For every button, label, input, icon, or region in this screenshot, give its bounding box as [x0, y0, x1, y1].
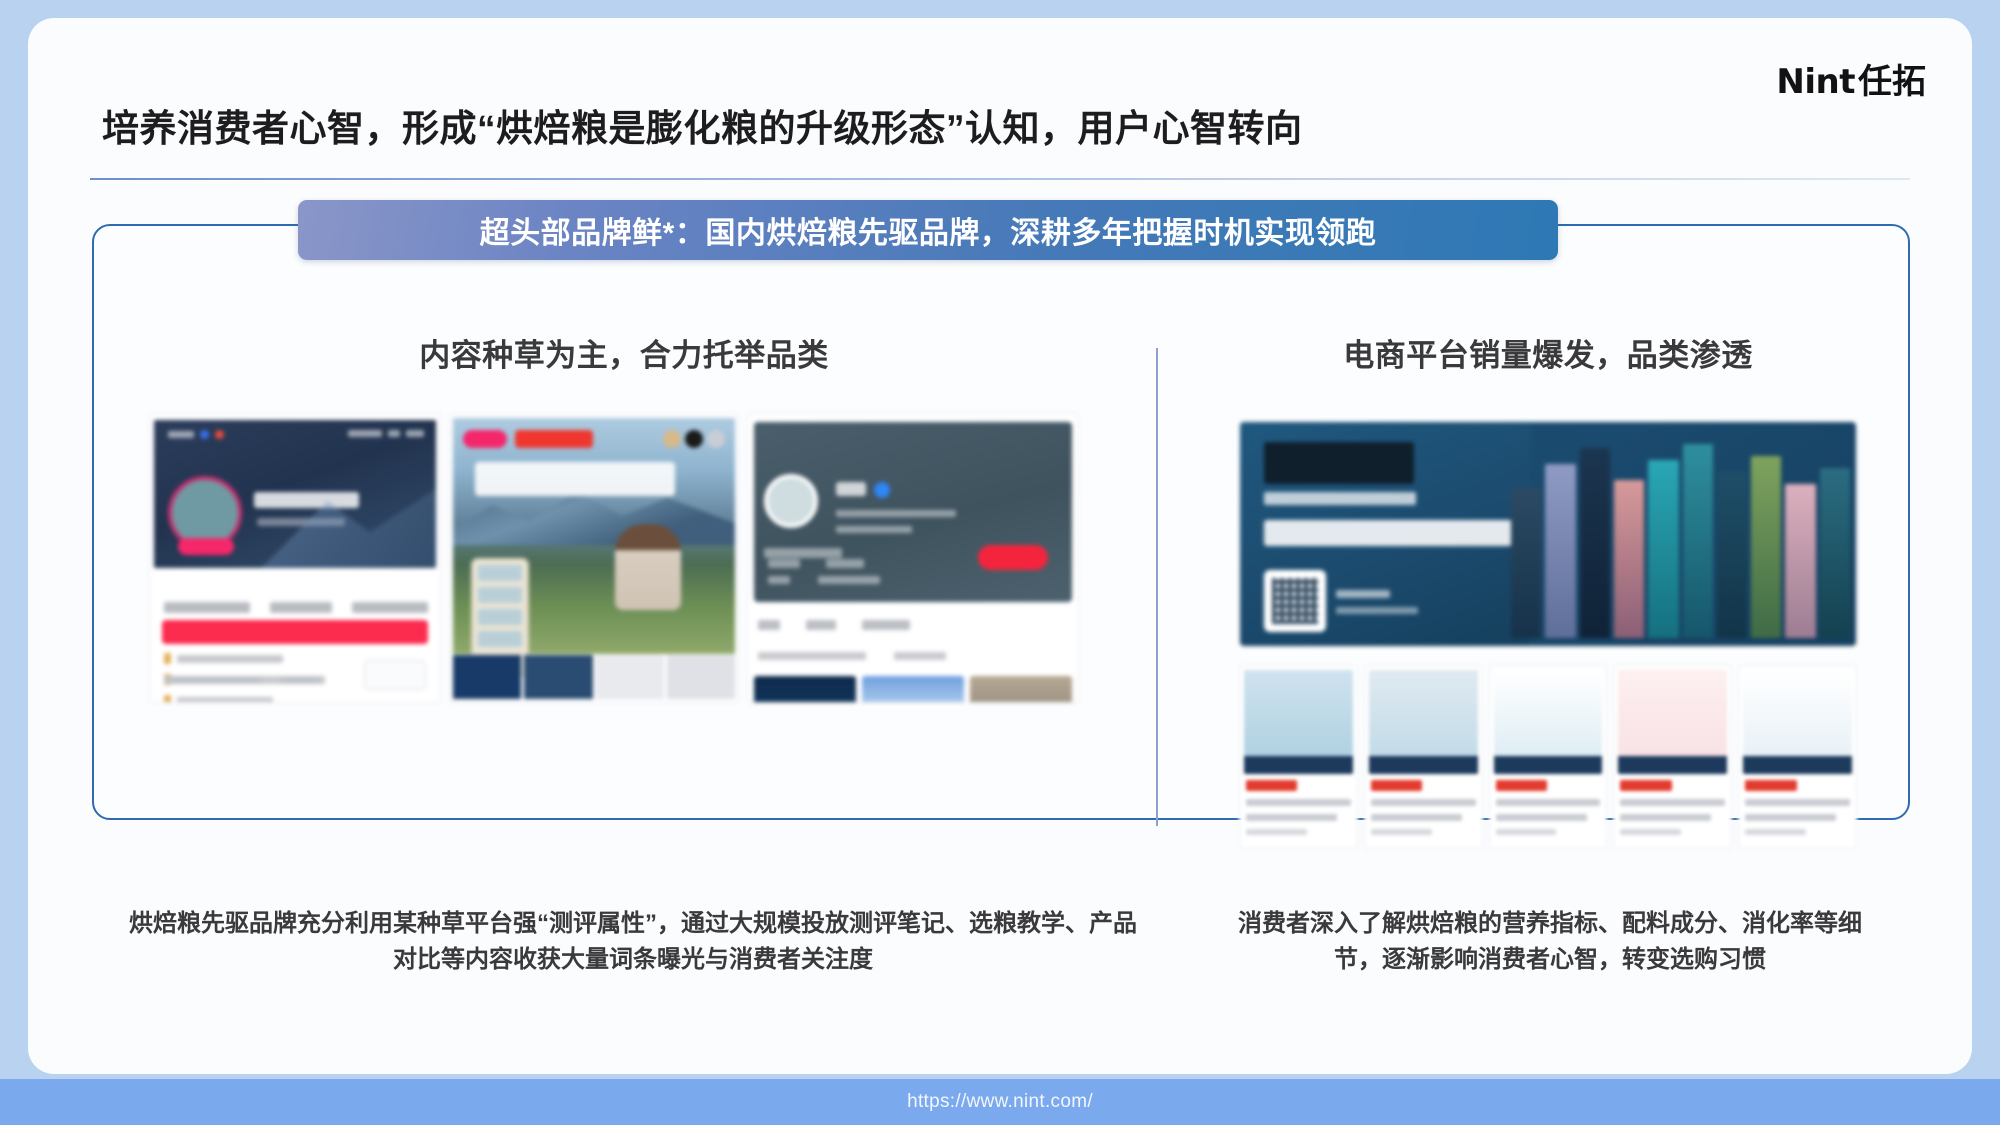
verified-badge-icon: [874, 482, 890, 498]
section-banner-label: 超头部品牌鲜*：国内烘焙粮先驱品牌，深耕多年把握时机实现领跑: [480, 208, 1377, 252]
right-column-caption: 消费者深入了解烘焙粮的营养指标、配料成分、消化率等细节，逐渐影响消费者心智，转变…: [1220, 906, 1880, 979]
product-card[interactable]: [1240, 666, 1357, 848]
profile-subrow: [758, 652, 946, 660]
promo-pill: [178, 538, 234, 555]
product-footer-row: [164, 676, 320, 684]
product-card[interactable]: [1614, 666, 1731, 848]
product-price-text: [1371, 780, 1422, 791]
product-hero-image: [154, 420, 436, 568]
note-tag: [463, 430, 507, 448]
brand-logo-cn: 任拓: [1858, 62, 1926, 102]
product-price-text: [1246, 780, 1297, 791]
note-cover-image: [453, 418, 735, 654]
note-headline-text: [475, 462, 675, 496]
product-price-text: [1620, 780, 1671, 791]
profile-avatar: [764, 474, 818, 528]
product-display-wall: [1511, 436, 1856, 638]
post-card[interactable]: [970, 676, 1072, 702]
hero-status-icons: [348, 430, 424, 437]
page-title: 培养消费者心智，形成“烘焙粮是膨化粮的升级形态”认知，用户心智转向: [102, 98, 1303, 152]
brand-profile-screenshot: [748, 414, 1078, 702]
brand-logo: Nint任拓: [1776, 54, 1926, 103]
brand-name-en-text: [1264, 492, 1416, 505]
brand-logo-mark: [1264, 442, 1414, 484]
qr-caption-line2: [1336, 607, 1418, 614]
profile-header: [754, 422, 1072, 602]
brand-slogan-text: [1264, 520, 1512, 546]
left-column-caption: 烘焙粮先驱品牌充分利用某种草平台强“测评属性”，通过大规模投放测评笔记、选粮教学…: [128, 906, 1138, 979]
product-card[interactable]: [1490, 666, 1607, 848]
person-figure: [615, 524, 681, 610]
right-column-heading: 电商平台销量爆发，品类渗透: [1188, 330, 1908, 375]
profile-post-grid: [754, 676, 1072, 702]
slide-canvas: Nint任拓 培养消费者心智，形成“烘焙粮是膨化粮的升级形态”认知，用户心智转向…: [28, 18, 1972, 1074]
left-column-heading: 内容种草为主，合力托举品类: [94, 330, 1154, 375]
left-column: 内容种草为主，合力托举品类: [94, 330, 1154, 375]
product-card[interactable]: [1365, 666, 1482, 848]
product-price-text: [1496, 780, 1547, 791]
product-price-text: [1745, 780, 1796, 791]
note-avatar-group: [663, 430, 725, 448]
title-divider: [90, 178, 1910, 180]
product-detail-screenshot: [150, 414, 440, 702]
note-thumb-strip: [453, 655, 735, 699]
hero-topbar: [168, 430, 224, 439]
right-column: 电商平台销量爆发，品类渗透: [1188, 330, 1908, 375]
qr-code-icon: [1264, 570, 1326, 632]
note-action-button[interactable]: [515, 430, 593, 448]
left-screenshot-group: [150, 414, 1090, 702]
column-divider: [1156, 348, 1158, 826]
profile-tabs[interactable]: [758, 614, 1068, 636]
buy-now-button[interactable]: [162, 620, 428, 644]
qr-caption-line1: [1336, 590, 1390, 598]
post-card[interactable]: [754, 676, 856, 702]
hero-title-text: [254, 492, 359, 508]
footer-url[interactable]: https://www.nint.com/: [907, 1091, 1093, 1113]
follow-button[interactable]: [978, 545, 1048, 570]
note-post-screenshot: [450, 414, 738, 702]
note-topbar: [463, 428, 725, 450]
product-card-row: [1240, 666, 1856, 848]
profile-name-text: [836, 482, 866, 496]
shop-chip[interactable]: [364, 660, 426, 690]
footer-bar: https://www.nint.com/: [0, 1079, 2000, 1125]
section-banner: 超头部品牌鲜*：国内烘焙粮先驱品牌，深耕多年把握时机实现领跑: [298, 200, 1558, 260]
product-card[interactable]: [1739, 666, 1856, 848]
brand-logo-latin: Nint: [1776, 62, 1855, 102]
product-meta-row: [164, 602, 428, 613]
post-card[interactable]: [862, 676, 964, 702]
hero-subtitle-text: [257, 518, 345, 526]
brand-banner-image: [1240, 422, 1856, 646]
